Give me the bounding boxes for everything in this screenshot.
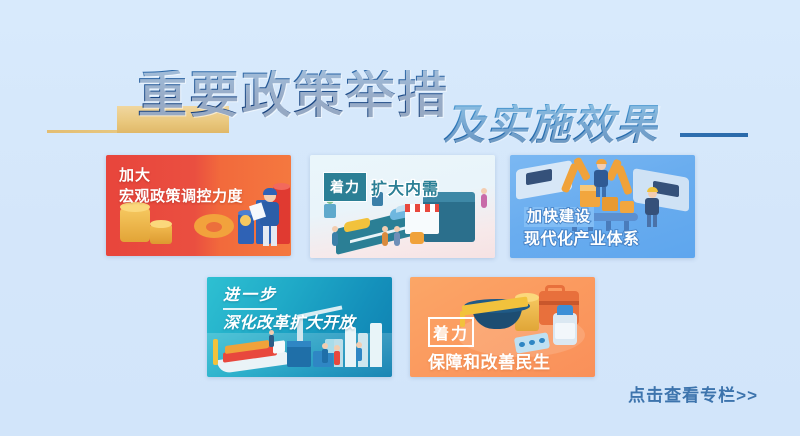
view-column-link[interactable]: 点击查看专栏>> <box>628 381 758 406</box>
card1-line1: 加大 <box>119 167 243 185</box>
deepen-reform-card[interactable]: 进一步 深化改革扩大开放 <box>207 277 392 377</box>
title-block: 重要政策举措 及实施效果 <box>0 34 800 124</box>
expand-demand-card[interactable]: 着力 扩大内需 <box>310 155 495 258</box>
card3-line2: 现代化产业体系 <box>524 231 640 250</box>
deepen-reform-label: 进一步 深化改革扩大开放 <box>223 287 355 334</box>
card3-line1: 加快建设 <box>524 207 594 227</box>
modern-industry-card[interactable]: 加快建设 现代化产业体系 <box>510 155 695 258</box>
card2-line2: 扩大内需 <box>371 175 439 199</box>
improve-livelihood-card[interactable]: 着力 保障和改善民生 <box>410 277 595 377</box>
poster-canvas: 重要政策举措 及实施效果 <box>0 0 800 436</box>
expand-demand-illustration <box>310 155 495 258</box>
expand-demand-label: 着力 扩大内需 <box>324 173 439 201</box>
improve-livelihood-label: 着力 保障和改善民生 <box>428 317 551 373</box>
page-title-main: 重要政策举措 <box>137 70 449 120</box>
card1-line2: 宏观政策调控力度 <box>119 188 243 206</box>
blue-rule <box>680 133 748 137</box>
card2-line1: 着力 <box>324 173 366 201</box>
card5-line1: 着力 <box>428 317 474 347</box>
modern-industry-label: 加快建设 现代化产业体系 <box>524 207 640 250</box>
card4-line1: 进一步 <box>223 287 277 310</box>
macro-policy-card[interactable]: 加大 宏观政策调控力度 <box>106 155 291 256</box>
page-title-sub: 及实施效果 <box>443 104 658 146</box>
card5-line2: 保障和改善民生 <box>428 353 551 373</box>
macro-policy-label: 加大 宏观政策调控力度 <box>119 167 243 205</box>
card4-line2: 深化改革扩大开放 <box>223 315 355 334</box>
gold-thin-rule <box>47 130 119 133</box>
